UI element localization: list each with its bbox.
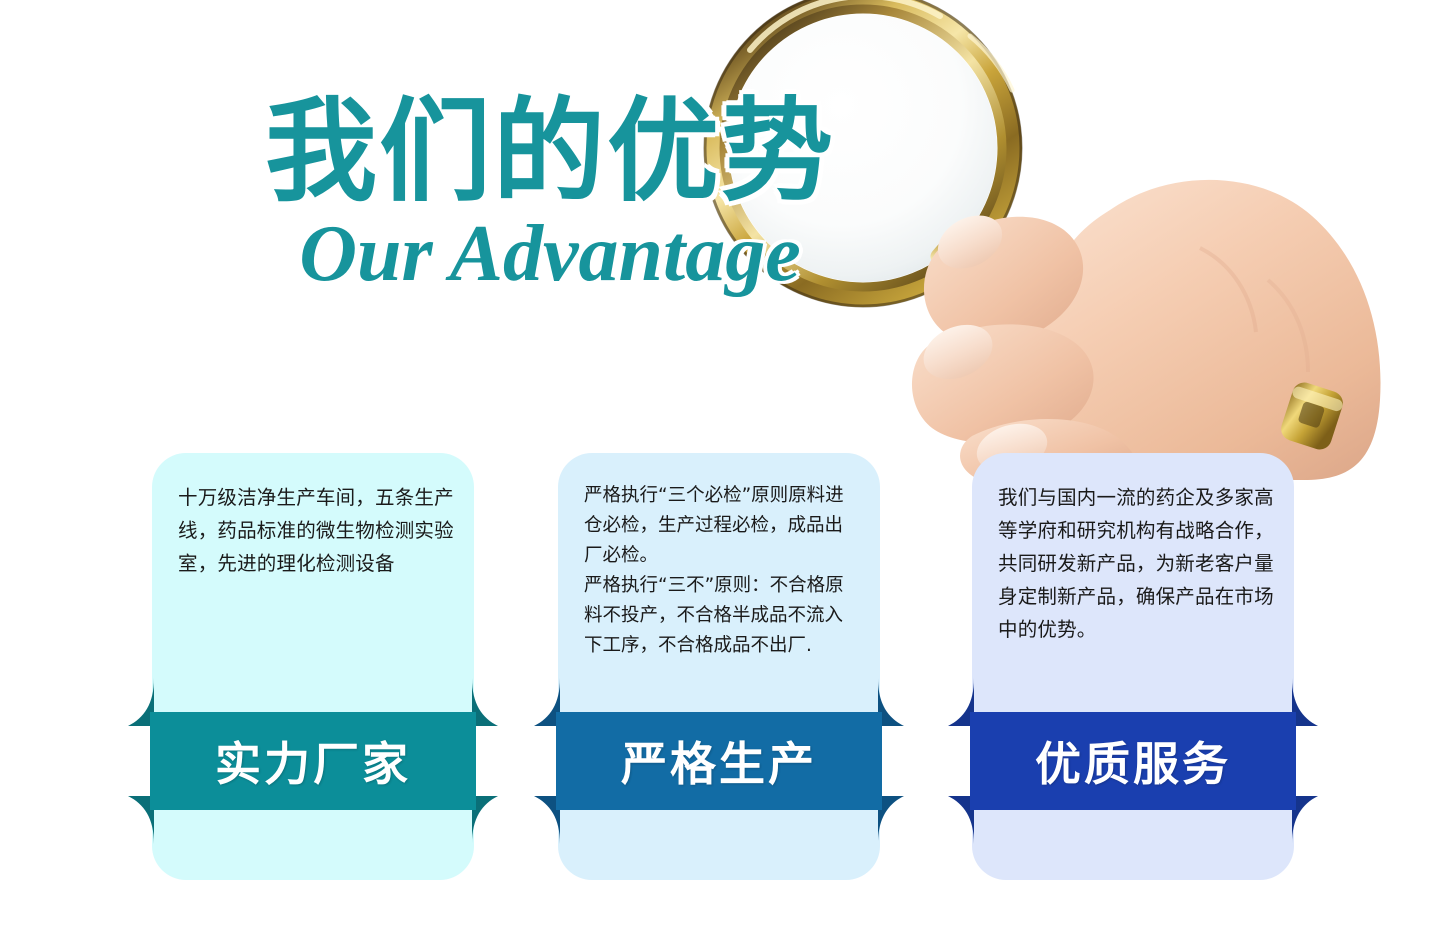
advantage-card-1[interactable]: 十万级洁净生产车间，五条生产线，药品标准的微生物检测实验室，先进的理化检测设备 bbox=[152, 453, 474, 880]
ribbon-2[interactable]: 严格生产 bbox=[534, 712, 904, 810]
advantage-card-2[interactable]: 严格执行“三个必检”原则原料进仓必检，生产过程必检，成品出厂必检。 严格执行“三… bbox=[558, 453, 880, 880]
card-1-description: 十万级洁净生产车间，五条生产线，药品标准的微生物检测实验室，先进的理化检测设备 bbox=[178, 481, 454, 580]
card-2-description: 严格执行“三个必检”原则原料进仓必检，生产过程必检，成品出厂必检。 严格执行“三… bbox=[584, 481, 860, 661]
ribbon-3-band: 优质服务 bbox=[970, 712, 1296, 810]
ribbon-2-band: 严格生产 bbox=[556, 712, 882, 810]
ribbon-1[interactable]: 实力厂家 bbox=[128, 712, 498, 810]
card-3-description: 我们与国内一流的药企及多家高等学府和研究机构有战略合作，共同研发新产品，为新老客… bbox=[998, 481, 1274, 646]
ribbon-1-label: 实力厂家 bbox=[150, 712, 476, 810]
ribbon-3[interactable]: 优质服务 bbox=[948, 712, 1318, 810]
ribbon-3-label: 优质服务 bbox=[970, 712, 1296, 810]
ribbon-2-label: 严格生产 bbox=[556, 712, 882, 810]
advantage-card-3[interactable]: 我们与国内一流的药企及多家高等学府和研究机构有战略合作，共同研发新产品，为新老客… bbox=[972, 453, 1294, 880]
advantage-banner: 我们的优势 Our Advantage 十万级洁净生产车间，五条生产线，药品标准… bbox=[0, 0, 1440, 930]
advantage-card-row: 十万级洁净生产车间，五条生产线，药品标准的微生物检测实验室，先进的理化检测设备 … bbox=[0, 0, 1440, 930]
ribbon-1-band: 实力厂家 bbox=[150, 712, 476, 810]
